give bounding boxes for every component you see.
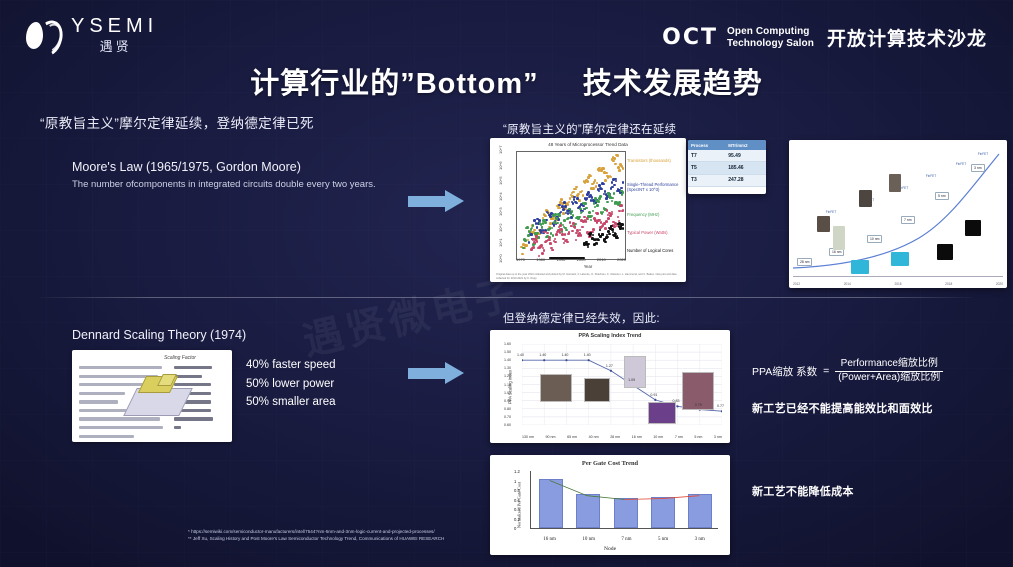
event-logo: OCT Open Computing Technology Salon 开放计算… bbox=[662, 24, 987, 51]
legend-item: Transistors (thousands) bbox=[627, 158, 683, 163]
table-cell: T3 bbox=[688, 174, 725, 186]
roadmap-chip-thumbnail bbox=[891, 252, 909, 266]
data-point bbox=[618, 169, 621, 172]
data-point bbox=[588, 211, 591, 214]
data-label: 1.40 bbox=[561, 353, 568, 357]
top-panel-caption: “原教旨主义的”摩尔定律还在延续 bbox=[503, 121, 676, 137]
data-point bbox=[564, 205, 567, 208]
data-point bbox=[559, 224, 562, 227]
axis-tick: 7 nm bbox=[675, 435, 683, 439]
roadmap-chip-thumbnail bbox=[889, 174, 901, 192]
data-point bbox=[538, 236, 541, 239]
brand-name-en: YSEMI bbox=[71, 16, 158, 36]
data-point bbox=[599, 195, 602, 198]
data-point bbox=[605, 172, 608, 175]
table-cell: 247.28 bbox=[725, 174, 766, 186]
data-point bbox=[568, 231, 571, 234]
legend-item: Single-Thread Performance (SpecINT x 10^… bbox=[627, 182, 683, 193]
dennard-scaling-table-image: Scaling Factor bbox=[72, 350, 232, 442]
legend-item: Frequency (MHz) bbox=[627, 212, 683, 217]
arrow-right-icon-top bbox=[408, 190, 464, 212]
page-title-part1: 计算行业的”Bottom” bbox=[250, 68, 538, 100]
dennard-heading: Dennard Scaling Theory (1974) bbox=[72, 328, 412, 342]
legend-item: Number of Logical Cores bbox=[627, 248, 683, 253]
axis-tick: 2020 bbox=[996, 282, 1003, 286]
roadmap-node-label: FinFET bbox=[809, 210, 853, 214]
axis-tick: 0 bbox=[514, 526, 516, 531]
ppa-formula-lhs: PPA缩放 系数 bbox=[752, 364, 817, 379]
data-point bbox=[549, 242, 552, 245]
data-point bbox=[562, 208, 565, 211]
axis-tick: 1.30 bbox=[504, 366, 511, 370]
data-label: 1.40 bbox=[517, 353, 524, 357]
table-column-header: Process bbox=[688, 140, 725, 150]
data-point bbox=[599, 229, 602, 232]
data-point bbox=[607, 217, 610, 220]
axis-tick: 90 nm bbox=[546, 435, 556, 439]
data-point bbox=[576, 197, 579, 200]
axis-tick: 1.60 bbox=[504, 342, 511, 346]
data-point bbox=[571, 230, 574, 233]
axis-tick: 0.8 bbox=[514, 488, 520, 493]
data-point bbox=[546, 232, 549, 235]
legend-item: Typical Power (Watts) bbox=[627, 230, 683, 235]
data-point bbox=[548, 239, 551, 242]
data-point bbox=[581, 226, 584, 229]
data-point bbox=[535, 235, 538, 238]
data-point bbox=[579, 208, 582, 211]
data-point bbox=[597, 200, 600, 203]
data-label: 1.40 bbox=[584, 353, 591, 357]
data-point bbox=[533, 229, 536, 232]
data-point bbox=[617, 216, 620, 219]
data-point bbox=[584, 202, 587, 205]
axis-tick: 1.10 bbox=[504, 383, 511, 387]
micrograph-thumbnail bbox=[584, 378, 610, 402]
data-point bbox=[604, 241, 607, 244]
data-point bbox=[544, 221, 547, 224]
chart-footnote: Original data up to the year 2010 collec… bbox=[496, 273, 680, 280]
chart-x-ticks: 197019801990200020102020 bbox=[516, 257, 626, 262]
data-point bbox=[536, 226, 539, 229]
data-point bbox=[528, 241, 531, 244]
data-point bbox=[563, 242, 566, 245]
roadmap-x-axis bbox=[793, 276, 1003, 277]
list-item: 50% smaller area bbox=[246, 393, 336, 412]
axis-tick: 5 nm bbox=[694, 435, 702, 439]
data-point bbox=[606, 201, 609, 204]
axis-tick: 1.00 bbox=[504, 391, 511, 395]
chart-plot-area bbox=[516, 151, 626, 260]
roadmap-chip-thumbnail bbox=[817, 216, 830, 232]
micrograph-thumbnail bbox=[540, 374, 572, 402]
data-point bbox=[556, 222, 559, 225]
axis-tick: 2010 bbox=[597, 257, 606, 262]
event-name-en-line1: Open Computing bbox=[727, 26, 814, 38]
chart-ppa-scaling: PPA Scaling Index Trend PPA Scaling Inde… bbox=[490, 330, 730, 443]
axis-tick: 10^5 bbox=[498, 177, 503, 186]
roadmap-chip-thumbnail bbox=[937, 244, 953, 260]
data-point bbox=[597, 239, 600, 242]
data-point bbox=[598, 190, 601, 193]
roadmap-chip-thumbnail bbox=[965, 220, 981, 236]
event-name-cn: 开放计算技术沙龙 bbox=[827, 24, 987, 51]
ppa-formula-equals: = bbox=[823, 365, 829, 377]
data-point bbox=[560, 228, 563, 231]
data-point bbox=[578, 216, 581, 219]
axis-tick: 65 nm bbox=[567, 435, 577, 439]
data-point bbox=[592, 228, 595, 231]
chart-per-gate-cost: Per Gate Cost Trend Normalized Per Gate … bbox=[490, 455, 730, 555]
chart-plot-area bbox=[530, 471, 718, 529]
footnote-line2: ** Jeff Xu, Scaling History and Post Moo… bbox=[188, 535, 488, 542]
mid-panel-caption: 但登纳德定律已经失效，因此: bbox=[503, 310, 660, 326]
data-point bbox=[555, 217, 558, 220]
data-point bbox=[612, 197, 615, 200]
data-point bbox=[592, 210, 595, 213]
roadmap-chip-thumbnail bbox=[859, 190, 872, 207]
axis-tick: 0.80 bbox=[504, 407, 511, 411]
axis-tick: 0.4 bbox=[514, 507, 520, 512]
data-point bbox=[596, 204, 599, 207]
dennard-scaling-factor-header: Scaling Factor bbox=[164, 355, 196, 361]
data-point bbox=[611, 211, 614, 214]
table-header-row: ProcessMTr/mm2 bbox=[688, 140, 766, 150]
oct-mark-icon: OCT bbox=[662, 25, 718, 50]
table-column-header: MTr/mm2 bbox=[725, 140, 766, 150]
axis-tick: 2014 bbox=[844, 282, 851, 286]
data-point bbox=[526, 244, 529, 247]
axis-tick: 10 nm bbox=[582, 537, 595, 542]
data-point bbox=[566, 241, 569, 244]
data-point bbox=[604, 179, 607, 182]
dennard-block: Dennard Scaling Theory (1974) bbox=[72, 328, 412, 342]
data-point bbox=[606, 236, 609, 239]
axis-tick: 2020 bbox=[617, 257, 626, 262]
cost-trend-line bbox=[531, 471, 718, 528]
page-title: 计算行业的”Bottom” 技术发展趋势 bbox=[0, 60, 1013, 102]
data-point bbox=[590, 219, 593, 222]
data-point bbox=[532, 224, 535, 227]
section-divider bbox=[40, 297, 973, 298]
data-point bbox=[568, 201, 571, 204]
data-point bbox=[541, 226, 544, 229]
data-point bbox=[551, 227, 554, 230]
data-point bbox=[552, 234, 555, 237]
data-point bbox=[543, 249, 546, 252]
data-point bbox=[572, 214, 575, 217]
data-point bbox=[554, 238, 557, 241]
list-item: 40% faster speed bbox=[246, 356, 336, 375]
roadmap-x-ticks: 20122014201620182020 bbox=[793, 282, 1003, 286]
data-point bbox=[585, 220, 588, 223]
data-point bbox=[522, 359, 523, 361]
data-point bbox=[575, 202, 578, 205]
data-point bbox=[526, 226, 529, 229]
data-point bbox=[522, 247, 525, 250]
axis-tick: 40 nm bbox=[589, 435, 599, 439]
axis-tick: 10^1 bbox=[498, 239, 503, 248]
roadmap-node: 28 nm bbox=[797, 258, 812, 266]
ppa-formula: PPA缩放 系数 = Performance缩放比例 (Power+Area)缩… bbox=[752, 358, 943, 384]
data-point bbox=[585, 207, 588, 210]
axis-tick: 2012 bbox=[793, 282, 800, 286]
table-row: T3247.28 bbox=[688, 174, 766, 186]
data-point bbox=[552, 249, 555, 252]
chart-microprocessor-trend: 48 Years of Microprocessor Trend Data 10… bbox=[490, 138, 686, 282]
data-point bbox=[575, 186, 578, 189]
data-point bbox=[602, 183, 605, 186]
roadmap-chip-thumbnail bbox=[851, 260, 869, 274]
left-subtitle: “原教旨主义”摩尔定律延续，登纳德定律已死 bbox=[40, 112, 314, 132]
data-point bbox=[721, 410, 722, 412]
data-point bbox=[621, 223, 624, 226]
data-point bbox=[620, 187, 623, 190]
data-point bbox=[604, 227, 607, 230]
table-row: T795.49 bbox=[688, 150, 766, 162]
data-point bbox=[600, 188, 603, 191]
axis-tick: 2018 bbox=[945, 282, 952, 286]
chart-title: PPA Scaling Index Trend bbox=[490, 333, 730, 339]
data-point bbox=[620, 204, 623, 207]
data-point bbox=[555, 233, 558, 236]
micrograph-thumbnail bbox=[648, 402, 676, 424]
axis-tick: 0.70 bbox=[504, 415, 511, 419]
data-point bbox=[613, 184, 616, 187]
data-point bbox=[567, 203, 570, 206]
axis-tick: 10^4 bbox=[498, 192, 503, 201]
data-point bbox=[580, 234, 583, 237]
data-point bbox=[622, 191, 625, 194]
brand-logo: YSEMI 遇贤 bbox=[24, 16, 158, 56]
data-point bbox=[608, 233, 611, 236]
event-name-en: Open Computing Technology Salon bbox=[727, 26, 814, 50]
chart-x-axis-label: Year bbox=[490, 264, 686, 269]
chart-x-axis-label: Node bbox=[490, 546, 730, 552]
axis-tick: 1980 bbox=[536, 257, 545, 262]
micrograph-thumbnail bbox=[624, 356, 646, 388]
data-point bbox=[622, 181, 625, 184]
axis-tick: 10^0 bbox=[498, 254, 503, 263]
table-cell: 95.49 bbox=[725, 150, 766, 162]
data-point bbox=[544, 215, 547, 218]
page-title-part2: 技术发展趋势 bbox=[583, 68, 763, 100]
moores-law-heading: Moore's Law (1965/1975, Gordon Moore) bbox=[72, 160, 402, 174]
roadmap-node: 7 nm bbox=[901, 216, 915, 224]
roadmap-node-label: FinFET bbox=[881, 186, 925, 190]
axis-tick: 1.40 bbox=[504, 358, 511, 362]
axis-tick: 7 nm bbox=[621, 537, 631, 542]
data-point bbox=[602, 211, 605, 214]
chart-title: 48 Years of Microprocessor Trend Data bbox=[490, 142, 686, 147]
footnote-line1: * https://semiwiki.com/semiconductor-man… bbox=[188, 528, 488, 535]
data-point bbox=[586, 217, 589, 220]
data-point bbox=[598, 197, 601, 200]
table-cell: T5 bbox=[688, 162, 725, 174]
data-point bbox=[593, 202, 596, 205]
axis-tick: 10^2 bbox=[498, 223, 503, 232]
roadmap-chip-thumbnail bbox=[833, 226, 845, 250]
axis-tick: 3 nm bbox=[695, 537, 705, 542]
data-point bbox=[527, 234, 530, 237]
process-density-table: ProcessMTr/mm2 T795.49T5185.46T3247.28 bbox=[688, 140, 766, 194]
data-point bbox=[616, 154, 619, 157]
axis-tick: 10^3 bbox=[498, 208, 503, 217]
axis-tick: 16 nm bbox=[543, 537, 556, 542]
axis-tick: 1 bbox=[514, 479, 516, 484]
data-point bbox=[558, 214, 561, 217]
data-point bbox=[622, 227, 625, 230]
axis-tick: 5 nm bbox=[658, 537, 668, 542]
axis-tick: 28 nm bbox=[610, 435, 620, 439]
data-point bbox=[588, 359, 590, 361]
chart-x-ticks: 130 nm90 nm65 nm40 nm28 nm16 nm10 nm7 nm… bbox=[522, 435, 722, 439]
data-point bbox=[605, 220, 608, 223]
data-point bbox=[596, 243, 599, 246]
table-cell: T7 bbox=[688, 150, 725, 162]
moores-law-description: The number ofcomponents in integrated ci… bbox=[72, 178, 402, 192]
data-point bbox=[541, 252, 544, 255]
data-point bbox=[565, 359, 567, 361]
axis-tick: 1990 bbox=[556, 257, 565, 262]
data-point bbox=[574, 188, 577, 191]
roadmap-node-label: FinFET bbox=[939, 162, 983, 166]
data-point bbox=[596, 221, 599, 224]
data-point bbox=[676, 405, 678, 407]
data-label: 0.79 bbox=[695, 403, 702, 407]
data-point bbox=[587, 243, 590, 246]
data-point bbox=[536, 240, 539, 243]
brand-name-cn: 遇贤 bbox=[73, 38, 158, 56]
axis-tick: 16 nm bbox=[632, 435, 642, 439]
data-point bbox=[574, 223, 577, 226]
axis-tick: 2000 bbox=[577, 257, 586, 262]
slide-canvas: YSEMI 遇贤 OCT Open Computing Technology S… bbox=[0, 0, 1013, 567]
data-point bbox=[564, 233, 567, 236]
data-point bbox=[622, 209, 625, 212]
data-point bbox=[582, 205, 585, 208]
data-point bbox=[587, 246, 590, 249]
note-cost: 新工艺不能降低成本 bbox=[752, 483, 854, 499]
roadmap-node-label: FinFET bbox=[909, 174, 953, 178]
axis-tick: 0.90 bbox=[504, 399, 511, 403]
axis-tick: 130 nm bbox=[522, 435, 534, 439]
chart-x-ticks: 16 nm10 nm7 nm5 nm3 nm bbox=[530, 537, 718, 542]
data-point bbox=[563, 201, 566, 204]
axis-tick: 1970 bbox=[516, 257, 525, 262]
data-point bbox=[614, 163, 617, 166]
data-point bbox=[572, 191, 575, 194]
dennard-benefits-list: 40% faster speed 50% lower power 50% sma… bbox=[246, 350, 336, 412]
data-point bbox=[586, 180, 589, 183]
axis-tick: 1.2 bbox=[514, 469, 520, 474]
axis-tick: 0.2 bbox=[514, 517, 520, 522]
data-point bbox=[569, 221, 572, 224]
data-point bbox=[521, 253, 524, 256]
axis-tick: 10^7 bbox=[498, 145, 503, 154]
data-point bbox=[538, 219, 541, 222]
data-point bbox=[622, 167, 625, 170]
list-item: 50% lower power bbox=[246, 375, 336, 394]
data-label: 1.09 bbox=[628, 378, 635, 382]
axis-tick: 0.60 bbox=[504, 423, 511, 427]
data-point bbox=[530, 233, 533, 236]
data-label: 1.27 bbox=[606, 364, 613, 368]
table-row: T5185.46 bbox=[688, 162, 766, 174]
ysemi-leaf-icon bbox=[24, 17, 62, 55]
event-name-en-line2: Technology Salon bbox=[727, 38, 814, 50]
ppa-formula-numerator: Performance缩放比例 bbox=[838, 358, 941, 371]
note-efficiency: 新工艺已经不能提高能效比和面效比 bbox=[752, 400, 933, 416]
data-point bbox=[575, 239, 578, 242]
axis-tick: 3 nm bbox=[714, 435, 722, 439]
data-point bbox=[596, 212, 599, 215]
data-label: 1.40 bbox=[539, 353, 546, 357]
data-point bbox=[602, 233, 605, 236]
arrow-right-icon-bottom bbox=[408, 362, 464, 384]
moores-law-block: Moore's Law (1965/1975, Gordon Moore) Th… bbox=[72, 160, 402, 192]
roadmap-node-label: FinFET bbox=[961, 152, 1005, 156]
data-point bbox=[602, 167, 605, 170]
data-point bbox=[592, 234, 595, 237]
mosfet-diagram-icon bbox=[130, 374, 186, 416]
axis-tick: 2016 bbox=[894, 282, 901, 286]
data-point bbox=[611, 186, 614, 189]
axis-tick: 0.6 bbox=[514, 498, 520, 503]
axis-tick: 10^6 bbox=[498, 161, 503, 170]
roadmap-node: 10 nm bbox=[867, 235, 882, 243]
data-point bbox=[613, 157, 616, 160]
data-point bbox=[532, 246, 535, 249]
data-point bbox=[524, 239, 527, 242]
dennard-content-row: Scaling Factor 40% faster speed 50% lowe… bbox=[72, 350, 336, 442]
data-point bbox=[610, 370, 612, 372]
axis-tick: 1.50 bbox=[504, 350, 511, 354]
table-body: T795.49T5185.46T3247.28 bbox=[688, 150, 766, 186]
axis-tick: 10 nm bbox=[653, 435, 663, 439]
data-label: 0.83 bbox=[673, 399, 680, 403]
roadmap-node: 5 nm bbox=[935, 192, 949, 200]
chart-plot-area bbox=[522, 344, 722, 425]
data-point bbox=[616, 237, 619, 240]
data-point bbox=[554, 241, 557, 244]
data-point bbox=[613, 192, 616, 195]
footnotes: * https://semiwiki.com/semiconductor-man… bbox=[188, 528, 488, 542]
data-label: 0.77 bbox=[717, 404, 724, 408]
data-label: 0.91 bbox=[650, 393, 657, 397]
data-point bbox=[571, 210, 574, 213]
data-point bbox=[572, 222, 575, 225]
table-cell: 185.46 bbox=[725, 162, 766, 174]
chart-process-node-roadmap: 28 nm16 nm10 nm7 nm5 nm3 nmFinFETFinFETF… bbox=[789, 140, 1007, 288]
data-point bbox=[654, 399, 656, 401]
axis-tick: 1.20 bbox=[504, 374, 511, 378]
ppa-formula-denominator: (Power+Area)缩放比例 bbox=[835, 372, 943, 385]
ppa-formula-fraction: Performance缩放比例 (Power+Area)缩放比例 bbox=[835, 358, 943, 384]
data-point bbox=[543, 359, 545, 361]
chart-title: Per Gate Cost Trend bbox=[490, 460, 730, 467]
data-point bbox=[615, 180, 618, 183]
